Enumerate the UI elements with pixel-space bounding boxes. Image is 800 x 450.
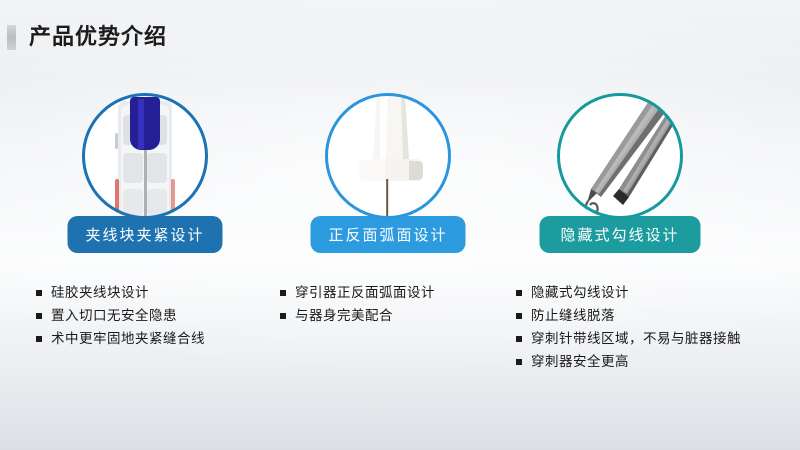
- list-item-label: 与器身完美配合: [295, 306, 393, 326]
- feature-badge-label-1: 夹线块夹紧设计: [85, 224, 204, 245]
- feature-bullets-3: 隐藏式勾线设计 防止缝线脱落 穿刺针带线区域，不易与脏器接触 穿刺器安全更高: [516, 283, 741, 375]
- feature-image-1: [82, 93, 208, 219]
- bullet-square-icon: [280, 313, 286, 319]
- list-item: 与器身完美配合: [280, 306, 435, 326]
- list-item: 穿刺针带线区域，不易与脏器接触: [516, 329, 741, 349]
- bullet-square-icon: [516, 336, 522, 342]
- list-item-label: 硅胶夹线块设计: [51, 283, 149, 303]
- silicone-clamp-block-icon: [82, 93, 208, 219]
- slide-canvas: 产品优势介绍: [0, 0, 800, 450]
- bullet-square-icon: [516, 290, 522, 296]
- list-item: 防止缝线脱落: [516, 306, 741, 326]
- bullet-square-icon: [516, 359, 522, 365]
- list-item-label: 术中更牢固地夹紧缝合线: [51, 329, 205, 349]
- list-item-label: 置入切口无安全隐患: [51, 306, 177, 326]
- bullet-square-icon: [280, 290, 286, 296]
- feature-group: 夹线块夹紧设计: [0, 88, 800, 268]
- feature-bullets-1: 硅胶夹线块设计 置入切口无安全隐患 术中更牢固地夹紧缝合线: [36, 283, 205, 352]
- feature-item-3: 隐藏式勾线设计: [500, 88, 740, 263]
- feature-item-2: 正反面弧面设计: [268, 88, 508, 263]
- feature-badge-label-3: 隐藏式勾线设计: [560, 224, 679, 245]
- bullet-square-icon: [36, 290, 42, 296]
- list-item: 置入切口无安全隐患: [36, 306, 205, 326]
- feature-image-3: [557, 93, 683, 219]
- list-item: 隐藏式勾线设计: [516, 283, 741, 303]
- feature-bullets-2: 穿引器正反面弧面设计 与器身完美配合: [280, 283, 435, 329]
- title-accent-bar: [7, 25, 16, 50]
- feature-badge-2[interactable]: 正反面弧面设计: [311, 216, 466, 253]
- list-item: 穿刺器安全更高: [516, 352, 741, 372]
- bullet-square-icon: [36, 313, 42, 319]
- bullet-square-icon: [36, 336, 42, 342]
- threader-handle-icon: [325, 93, 451, 219]
- page-title: 产品优势介绍: [0, 22, 167, 52]
- list-item-label: 穿刺针带线区域，不易与脏器接触: [531, 329, 741, 349]
- bullet-square-icon: [516, 313, 522, 319]
- list-item-label: 穿引器正反面弧面设计: [295, 283, 435, 303]
- list-item-label: 隐藏式勾线设计: [531, 283, 629, 303]
- feature-image-2: [325, 93, 451, 219]
- feature-badge-1[interactable]: 夹线块夹紧设计: [68, 216, 223, 253]
- list-item-label: 防止缝线脱落: [531, 306, 615, 326]
- hidden-hook-needles-icon: [557, 93, 683, 219]
- feature-badge-3[interactable]: 隐藏式勾线设计: [540, 216, 701, 253]
- feature-item-1: 夹线块夹紧设计: [25, 88, 265, 263]
- list-item: 硅胶夹线块设计: [36, 283, 205, 303]
- list-item-label: 穿刺器安全更高: [531, 352, 629, 372]
- page-title-text: 产品优势介绍: [29, 26, 167, 48]
- list-item: 穿引器正反面弧面设计: [280, 283, 435, 303]
- feature-badge-label-2: 正反面弧面设计: [328, 224, 447, 245]
- list-item: 术中更牢固地夹紧缝合线: [36, 329, 205, 349]
